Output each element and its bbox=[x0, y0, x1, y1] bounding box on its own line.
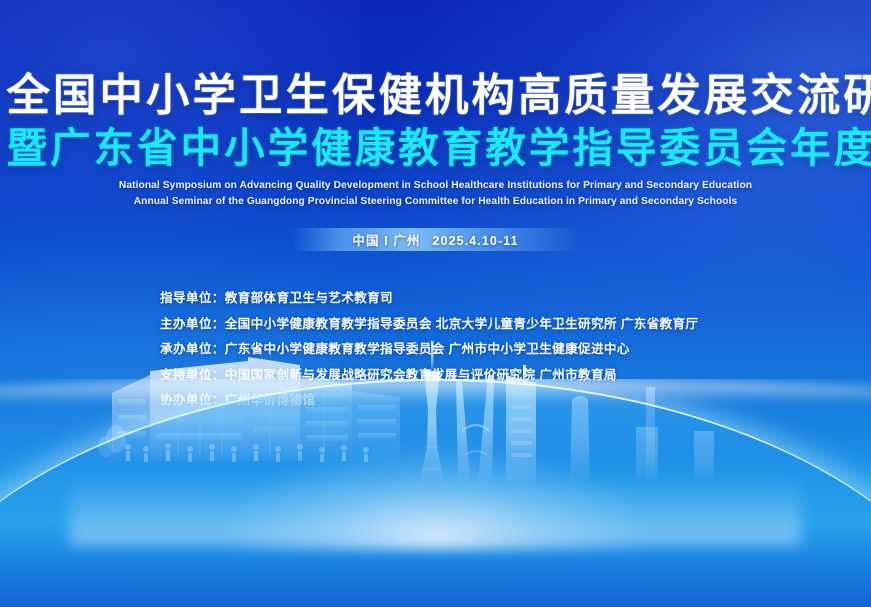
office-tower-icon bbox=[506, 365, 536, 481]
title-line-2: 暨广东省中小学健康教育教学指导委员会年度研讨活动 bbox=[7, 128, 865, 169]
arch-towers-icon bbox=[456, 375, 494, 481]
light-glow-top-left bbox=[0, 0, 360, 260]
organization-row: 承办单位：广东省中小学健康教育教学指导委员会 广州市中小学卫生健康促进中心 bbox=[160, 337, 698, 363]
center-glow-haze bbox=[209, 439, 662, 549]
skyline-svg bbox=[0, 335, 871, 535]
horizon-arc bbox=[0, 379, 871, 607]
light-glow-mid-left bbox=[0, 230, 340, 550]
light-streak-icon bbox=[644, 0, 752, 11]
rounded-tower-icon bbox=[570, 396, 590, 481]
ground-haze bbox=[70, 475, 802, 545]
horizon-curve bbox=[0, 379, 871, 607]
date-location-text: 中国 I 广州2025.4.10-11 bbox=[352, 230, 518, 249]
poster-headline: 全国中小学卫生保健机构高质量发展交流研讨活动 暨广东省中小学健康教育教学指导委员… bbox=[0, 74, 871, 169]
light-glow-top-right bbox=[294, 0, 871, 522]
conference-poster: 全国中小学卫生保健机构高质量发展交流研讨活动 暨广东省中小学健康教育教学指导委员… bbox=[0, 0, 871, 607]
city-skyline-illustration bbox=[0, 335, 871, 535]
location-label: 中国 I 广州 bbox=[352, 234, 420, 248]
date-location-bar: 中国 I 广州2025.4.10-11 bbox=[292, 228, 580, 251]
organization-row: 主办单位：全国中小学健康教育教学指导委员会 北京大学儿童青少年卫生研究所 广东省… bbox=[160, 312, 698, 338]
right-towers-icon bbox=[636, 387, 714, 481]
subtitle-line-1: National Symposium on Advancing Quality … bbox=[0, 178, 871, 194]
organization-row: 协办单位：广州华侨博物馆 bbox=[160, 388, 698, 414]
school-building-icon bbox=[112, 357, 400, 461]
canton-tower-icon bbox=[420, 341, 444, 481]
organization-row: 支持单位：中国国家创新与发展战略研究会教育发展与评价研究院 广州市教育局 bbox=[160, 363, 698, 389]
title-line-1: 全国中小学卫生保健机构高质量发展交流研讨活动 bbox=[7, 74, 865, 118]
organization-row: 指导单位：教育部体育卫生与艺术教育司 bbox=[160, 286, 698, 312]
subtitle-line-2: Annual Seminar of the Guangdong Provinci… bbox=[0, 194, 871, 210]
date-label: 2025.4.10-11 bbox=[432, 234, 518, 248]
poster-subtitle: National Symposium on Advancing Quality … bbox=[0, 178, 871, 210]
horizon-glow bbox=[0, 379, 871, 403]
organization-list: 指导单位：教育部体育卫生与艺术教育司 主办单位：全国中小学健康教育教学指导委员会… bbox=[160, 286, 698, 414]
plaza-figures-icon bbox=[98, 425, 369, 462]
